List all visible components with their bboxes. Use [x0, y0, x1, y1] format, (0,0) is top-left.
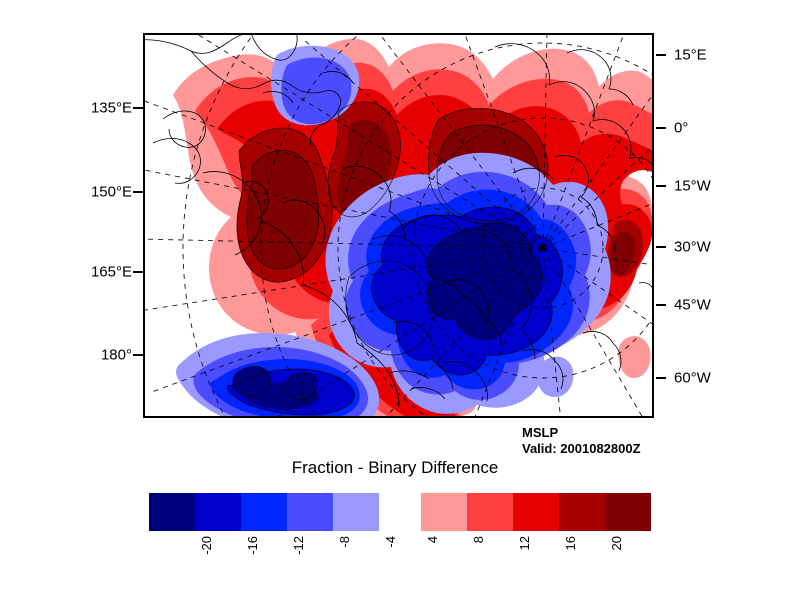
axis-label-left-2: 165°E	[60, 265, 132, 280]
axis-label-right-1: 0°	[674, 121, 688, 136]
colorbar-swatch-pos-4	[605, 493, 651, 531]
axis-label-left-0: 135°E	[60, 101, 132, 116]
field-name: MSLP	[522, 425, 641, 441]
tick-right-2	[656, 185, 666, 187]
tick-left-0	[133, 107, 143, 109]
colorbar-swatch-neg-2	[241, 493, 287, 531]
axis-label-left-3: 180°	[60, 348, 132, 363]
tick-right-0	[656, 54, 666, 56]
axis-label-right-3: 30°W	[674, 240, 711, 255]
tick-left-2	[133, 271, 143, 273]
mslp-annotation: MSLP Valid: 2001082800Z	[522, 425, 641, 458]
cbar-tick-neg-3: -8	[338, 536, 351, 548]
tick-right-4	[656, 304, 666, 306]
colorbar-positive	[420, 492, 652, 532]
colorbar-swatch-pos-3	[559, 493, 605, 531]
figure-canvas: 135°E 150°E 165°E 180° 15°E 0° 15°W 30°W…	[0, 0, 792, 612]
colorbar-swatch-neg-1	[195, 493, 241, 531]
cbar-tick-pos-1: 8	[472, 536, 485, 543]
tick-right-1	[656, 127, 666, 129]
tick-right-3	[656, 246, 666, 248]
cbar-tick-neg-1: -16	[246, 536, 259, 555]
cbar-tick-pos-4: 20	[610, 536, 623, 550]
colorbar-swatch-pos-0	[421, 493, 467, 531]
axis-label-left-1: 150°E	[60, 185, 132, 200]
axis-label-right-4: 45°W	[674, 298, 711, 313]
colorbar-swatch-pos-2	[513, 493, 559, 531]
plot-title-text: Fraction - Binary Difference	[292, 458, 499, 477]
cbar-tick-pos-3: 16	[564, 536, 577, 550]
tick-left-1	[133, 191, 143, 193]
colorbar-swatch-pos-1	[467, 493, 513, 531]
cbar-tick-pos-0: 4	[426, 536, 439, 543]
contour-map	[143, 33, 654, 418]
colorbar-swatch-neg-0	[149, 493, 195, 531]
plot-title: Fraction - Binary Difference	[0, 458, 792, 478]
valid-time: Valid: 2001082800Z	[522, 441, 641, 457]
cbar-tick-neg-2: -12	[292, 536, 305, 555]
colorbar-swatch-neg-4	[333, 493, 379, 531]
axis-label-right-0: 15°E	[674, 48, 707, 63]
map-plot-area	[143, 33, 654, 418]
cbar-tick-neg-0: -20	[200, 536, 213, 555]
cbar-tick-neg-4: -4	[384, 536, 397, 548]
cbar-tick-pos-2: 12	[518, 536, 531, 550]
axis-label-right-5: 60°W	[674, 371, 711, 386]
axis-label-right-2: 15°W	[674, 179, 711, 194]
colorbar-swatch-neg-3	[287, 493, 333, 531]
colorbar-negative	[148, 492, 380, 532]
tick-right-5	[656, 377, 666, 379]
tick-left-3	[133, 354, 143, 356]
